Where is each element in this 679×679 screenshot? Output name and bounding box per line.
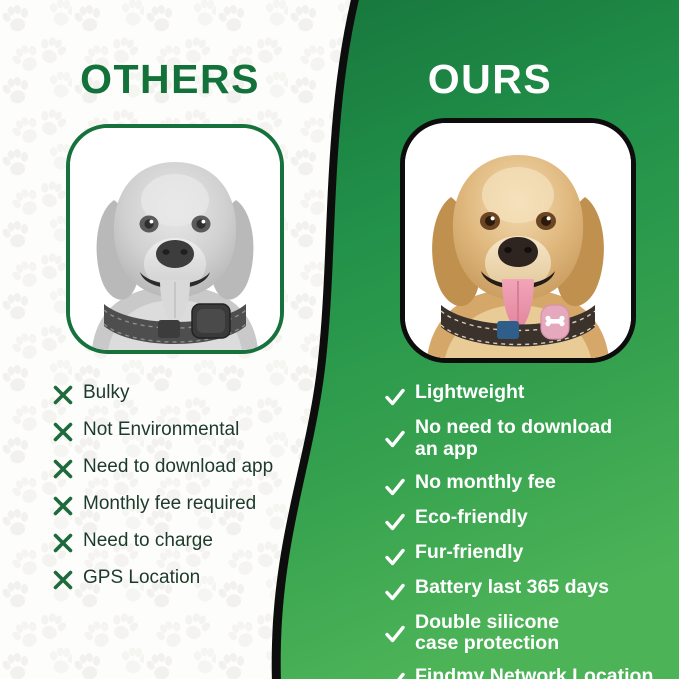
list-item: GPS Location xyxy=(52,567,322,591)
x-icon xyxy=(52,457,74,481)
list-item: Double silicone case protection xyxy=(384,612,674,656)
list-item-label: Eco-friendly xyxy=(415,507,528,529)
list-item-label: Fur-friendly xyxy=(415,542,523,564)
x-icon xyxy=(52,568,74,592)
list-item-label: Lightweight xyxy=(415,382,524,404)
check-icon xyxy=(384,669,406,679)
list-item-label: GPS Location xyxy=(83,567,200,588)
check-icon xyxy=(384,545,406,569)
list-item: Not Environmental xyxy=(52,419,322,443)
grayscale-dog-illustration xyxy=(70,128,280,350)
list-item-label: No monthly fee xyxy=(415,472,556,494)
x-icon xyxy=(52,383,74,407)
ours-product-image xyxy=(400,118,636,363)
list-item: No monthly fee xyxy=(384,472,674,496)
ours-heading: OURS xyxy=(340,56,640,103)
list-item-label: Need to download app xyxy=(83,456,273,477)
check-icon xyxy=(384,622,406,646)
check-icon xyxy=(384,510,406,534)
list-item-label: Double silicone case protection xyxy=(415,612,559,656)
list-item-label: Bulky xyxy=(83,382,129,403)
list-item: Bulky xyxy=(52,382,322,406)
list-item: Monthly fee required xyxy=(52,493,322,517)
comparison-infographic: OTHERS OURS xyxy=(0,0,679,679)
list-item: Battery last 365 days xyxy=(384,577,674,601)
others-product-image xyxy=(66,124,284,354)
color-dog-illustration xyxy=(405,123,631,358)
others-heading: OTHERS xyxy=(0,56,340,103)
list-item: No need to download an app xyxy=(384,417,674,461)
list-item-label: Battery last 365 days xyxy=(415,577,609,599)
ours-feature-list: Lightweight No need to download an app N… xyxy=(384,382,674,679)
check-icon xyxy=(384,427,406,451)
check-icon xyxy=(384,475,406,499)
x-icon xyxy=(52,420,74,444)
check-icon xyxy=(384,580,406,604)
x-icon xyxy=(52,494,74,518)
x-icon xyxy=(52,531,74,555)
list-item-label: Monthly fee required xyxy=(83,493,256,514)
list-item: Fur-friendly xyxy=(384,542,674,566)
list-item-label: Not Environmental xyxy=(83,419,239,440)
list-item-label: No need to download an app xyxy=(415,417,612,461)
list-item: Need to download app xyxy=(52,456,322,480)
list-item: Need to charge xyxy=(52,530,322,554)
list-item-label: Findmy Network Location xyxy=(415,666,653,679)
list-item: Eco-friendly xyxy=(384,507,674,531)
list-item-label: Need to charge xyxy=(83,530,213,551)
check-icon xyxy=(384,385,406,409)
list-item: Lightweight xyxy=(384,382,674,406)
list-item: Findmy Network Location xyxy=(384,666,674,679)
others-feature-list: Bulky Not Environmental Need to download… xyxy=(52,382,322,604)
